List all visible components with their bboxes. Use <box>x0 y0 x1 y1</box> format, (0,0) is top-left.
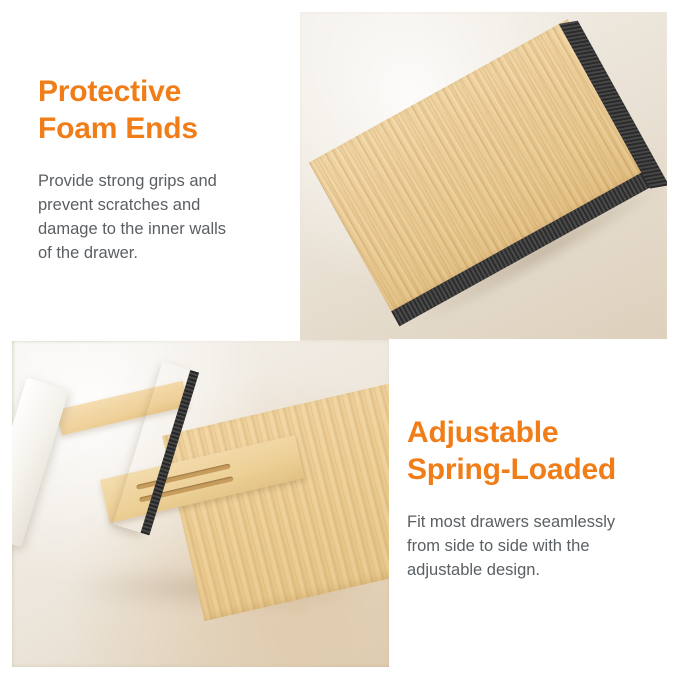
headline-line-1: Adjustable <box>407 416 558 449</box>
text-panel-adjustable-spring-loaded: Adjustable Spring-Loaded Fit most drawer… <box>389 339 679 679</box>
text-panel-protective-foam-ends: Protective Foam Ends Provide strong grip… <box>0 0 300 341</box>
product-feature-collage: Protective Foam Ends Provide strong grip… <box>0 0 679 679</box>
body-line-4: of the drawer. <box>38 242 280 266</box>
body-line-3: adjustable design. <box>407 559 662 583</box>
body-line-1: Provide strong grips and <box>38 170 280 194</box>
headline-adjustable-spring-loaded: Adjustable Spring-Loaded <box>407 415 662 489</box>
body-line-3: damage to the inner walls <box>38 218 280 242</box>
body-line-2: from side to side with the <box>407 535 662 559</box>
body-copy-adjustable-spring-loaded: Fit most drawers seamlessly from side to… <box>407 511 662 583</box>
photo-adjustable-spring-loaded <box>12 340 390 667</box>
headline-line-2: Foam Ends <box>38 111 280 148</box>
body-copy-protective-foam-ends: Provide strong grips and prevent scratch… <box>38 170 280 266</box>
body-line-2: prevent scratches and <box>38 194 280 218</box>
headline-line-1: Protective <box>38 75 181 108</box>
headline-line-2: Spring-Loaded <box>407 452 662 489</box>
photo-protective-foam-ends <box>300 12 667 341</box>
body-line-1: Fit most drawers seamlessly <box>407 511 662 535</box>
headline-protective-foam-ends: Protective Foam Ends <box>38 74 280 148</box>
